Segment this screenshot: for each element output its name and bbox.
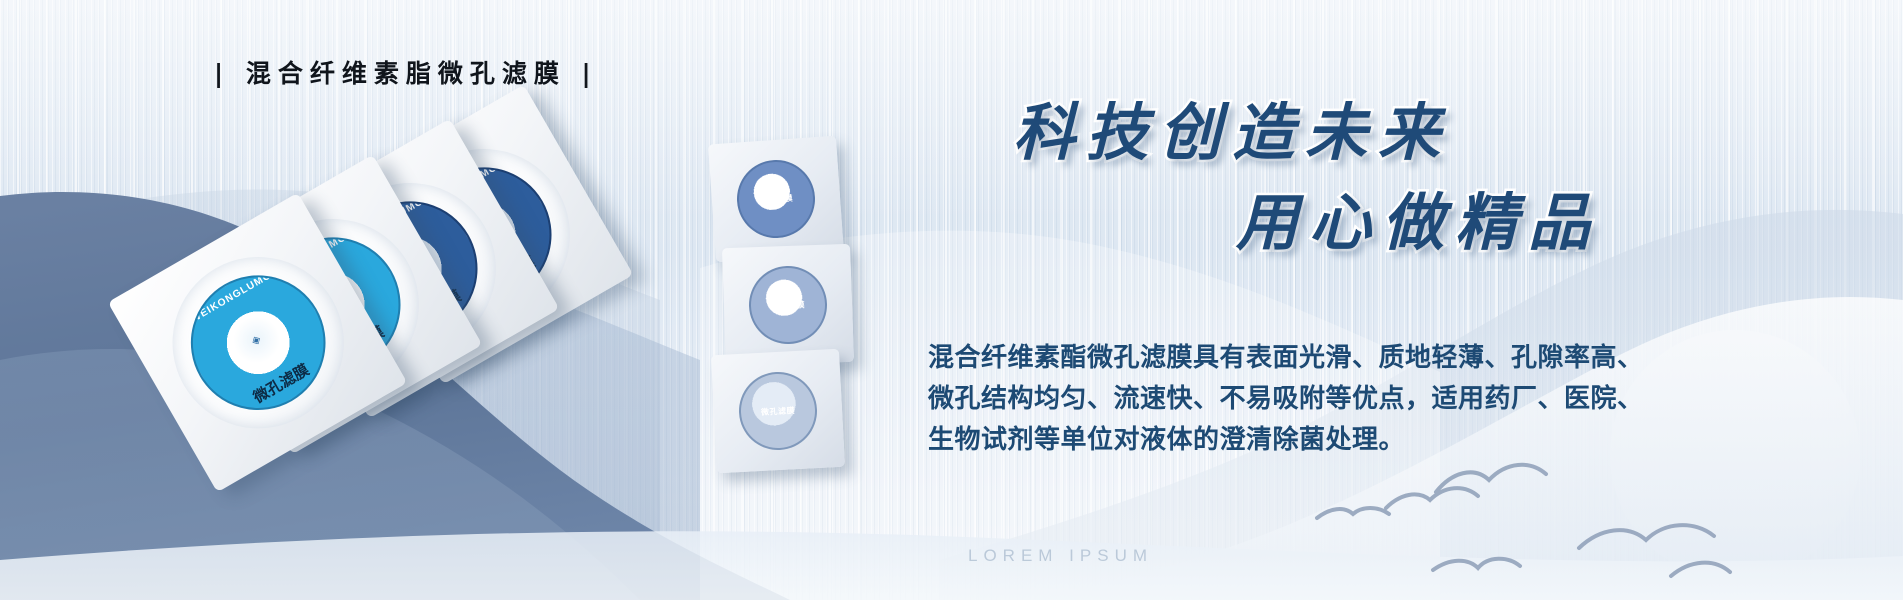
moon-circle [1610,330,1860,580]
watermark-text: LOREM IPSUM [968,546,1153,566]
label-mark-icon: ◈ [224,308,288,372]
description-line-1: 混合纤维素酯微孔滤膜具有表面光滑、质地轻薄、孔隙率高、 [928,338,1628,379]
banner-subtitle: | 混合纤维素脂微孔滤膜 | [214,54,598,90]
sachet-disc: 微孔滤膜 [737,370,819,452]
banner-description: 混合纤维素酯微孔滤膜具有表面光滑、质地轻薄、孔隙率高、 微孔结构均匀、流速快、不… [928,338,1628,461]
headline-line-1: 科技创造未来 [1013,88,1451,178]
product-label: WEIKONGLUMO ◈ 微孔滤膜 [166,251,350,435]
sachet-item: 微孔滤膜 [711,349,845,474]
description-line-3: 生物试剂等单位对液体的澄清除菌处理。 [928,420,1628,461]
sachet-label: 微孔滤膜 [750,267,827,344]
sachet-item: 微孔滤膜 [722,244,854,366]
description-line-2: 微孔结构均匀、流速快、不易吸附等优点，适用药厂、医院、 [928,379,1628,420]
sachet-disc: 微孔滤膜 [748,265,829,346]
headline-line-2: 用心做精品 [1013,178,1601,268]
sachet-disc: 微孔滤膜 [734,157,817,240]
sachet-item: 微孔滤膜 [708,136,844,263]
product-pack-group: WEIKONGLUMO ◈ 微孔滤膜 WEIKONGLUMO ◈ 微孔滤膜 WE… [110,125,580,455]
banner-headline: 科技创造未来 用心做精品 [1013,88,1451,268]
promo-banner: WEIKONGLUMO ◈ 微孔滤膜 WEIKONGLUMO ◈ 微孔滤膜 WE… [0,0,1903,600]
sachet-label: 微孔滤膜 [737,160,816,239]
sachet-label: 微孔滤膜 [739,372,817,450]
